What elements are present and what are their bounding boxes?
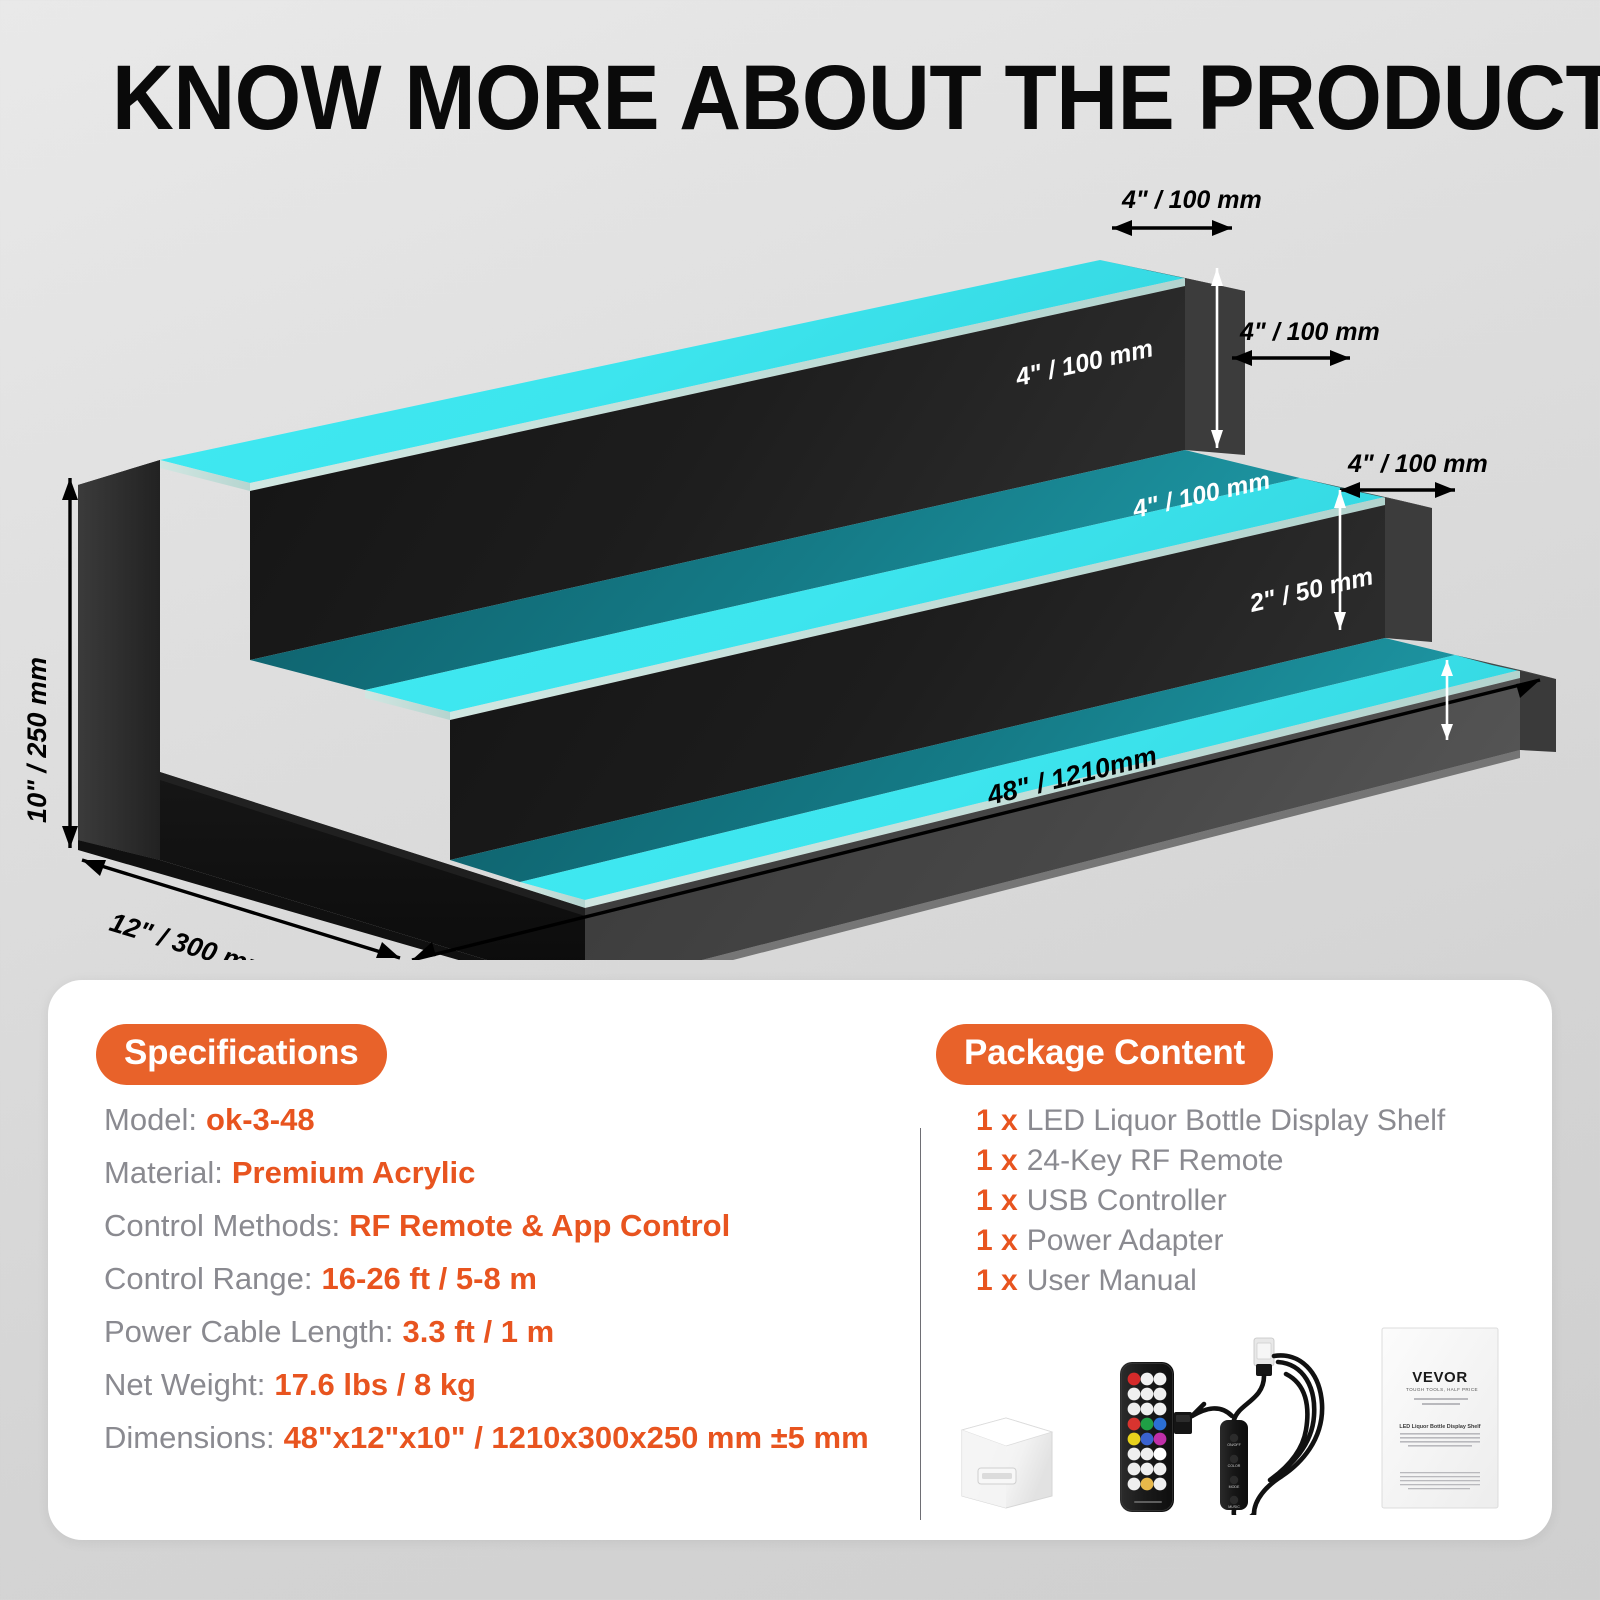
page-title: KNOW MORE ABOUT THE PRODUCT xyxy=(112,52,1395,144)
pkg-name: User Manual xyxy=(1027,1264,1197,1298)
manual-product-title: LED Liquor Bottle Display Shelf xyxy=(1399,1424,1480,1430)
power-adapter-photo xyxy=(962,1418,1052,1508)
ctrl-label-color: COLOR xyxy=(1228,1464,1241,1468)
pkg-qty: 1 x xyxy=(976,1104,1018,1138)
spec-row-net-weight: Net Weight: 17.6 lbs / 8 kg xyxy=(104,1367,904,1420)
list-item: 1 x USB Controller xyxy=(976,1184,1536,1224)
list-item: 1 x User Manual xyxy=(976,1264,1536,1304)
spec-value: 3.3 ft / 1 m xyxy=(403,1314,555,1350)
manual-tagline: TOUGH TOOLS, HALF PRICE xyxy=(1406,1387,1478,1392)
spec-value: 16-26 ft / 5-8 m xyxy=(322,1261,537,1297)
spec-value: RF Remote & App Control xyxy=(349,1208,730,1244)
dim-top-step-depth: 4" / 100 mm xyxy=(1121,186,1262,214)
spec-label: Dimensions: xyxy=(104,1420,275,1456)
spec-row-material: Material: Premium Acrylic xyxy=(104,1155,904,1208)
pkg-name: 24-Key RF Remote xyxy=(1027,1144,1284,1178)
user-manual-photo: VEVOR TOUGH TOOLS, HALF PRICE LED Liquor… xyxy=(1382,1328,1498,1508)
pkg-qty: 1 x xyxy=(976,1184,1018,1218)
dim-mid-step-depth: 4" / 100 mm xyxy=(1239,318,1380,346)
pkg-qty: 1 x xyxy=(976,1264,1018,1298)
spec-label: Control Range: xyxy=(104,1261,313,1297)
spec-row-control-range: Control Range: 16-26 ft / 5-8 m xyxy=(104,1261,904,1314)
spec-value: ok-3-48 xyxy=(206,1102,315,1138)
accessory-photos: ON/OFF COLOR MODE MUSIC VEVOR TOUGH TOOL… xyxy=(948,1300,1528,1515)
shelf-left-end-panel xyxy=(78,460,160,860)
usb-controller-photo: ON/OFF COLOR MODE MUSIC xyxy=(1174,1338,1322,1515)
column-divider xyxy=(920,1128,921,1520)
specifications-list: Model: ok-3-48 Material: Premium Acrylic… xyxy=(104,1102,904,1473)
spec-label: Material: xyxy=(104,1155,223,1191)
spec-row-model: Model: ok-3-48 xyxy=(104,1102,904,1155)
package-content-list: 1 x LED Liquor Bottle Display Shelf 1 x … xyxy=(976,1104,1536,1304)
manual-brand: VEVOR xyxy=(1412,1369,1468,1386)
specifications-badge: Specifications xyxy=(96,1024,387,1085)
dim-bottom-step-depth: 4" / 100 mm xyxy=(1347,450,1488,478)
spec-value: 17.6 lbs / 8 kg xyxy=(274,1367,476,1403)
list-item: 1 x 24-Key RF Remote xyxy=(976,1144,1536,1184)
package-content-badge: Package Content xyxy=(936,1024,1273,1085)
ctrl-label-onoff: ON/OFF xyxy=(1227,1443,1241,1447)
rf-remote-photo xyxy=(1120,1362,1174,1512)
pkg-name: USB Controller xyxy=(1027,1184,1227,1218)
pkg-name: Power Adapter xyxy=(1027,1224,1224,1258)
dim-overall-depth: 12" / 300 mm xyxy=(106,907,273,960)
spec-value: Premium Acrylic xyxy=(232,1155,476,1191)
pkg-name: LED Liquor Bottle Display Shelf xyxy=(1027,1104,1446,1138)
spec-label: Net Weight: xyxy=(104,1367,265,1403)
spec-row-dimensions: Dimensions: 48"x12"x10" / 1210x300x250 m… xyxy=(104,1420,904,1473)
spec-row-power-cable-length: Power Cable Length: 3.3 ft / 1 m xyxy=(104,1314,904,1367)
spec-label: Model: xyxy=(104,1102,197,1138)
pkg-qty: 1 x xyxy=(976,1224,1018,1258)
spec-value: 48"x12"x10" / 1210x300x250 mm ±5 mm xyxy=(284,1420,869,1456)
pkg-qty: 1 x xyxy=(976,1144,1018,1178)
list-item: 1 x Power Adapter xyxy=(976,1224,1536,1264)
product-diagram: 4" / 100 mm 4" / 100 mm 4" / 100 mm 4" /… xyxy=(0,160,1600,960)
dim-overall-height: 10" / 250 mm xyxy=(22,657,52,823)
spec-row-control-methods: Control Methods: RF Remote & App Control xyxy=(104,1208,904,1261)
ctrl-label-mode: MODE xyxy=(1229,1485,1240,1489)
info-card: Specifications Model: ok-3-48 Material: … xyxy=(48,980,1552,1540)
list-item: 1 x LED Liquor Bottle Display Shelf xyxy=(976,1104,1536,1144)
spec-label: Control Methods: xyxy=(104,1208,340,1244)
spec-label: Power Cable Length: xyxy=(104,1314,394,1350)
